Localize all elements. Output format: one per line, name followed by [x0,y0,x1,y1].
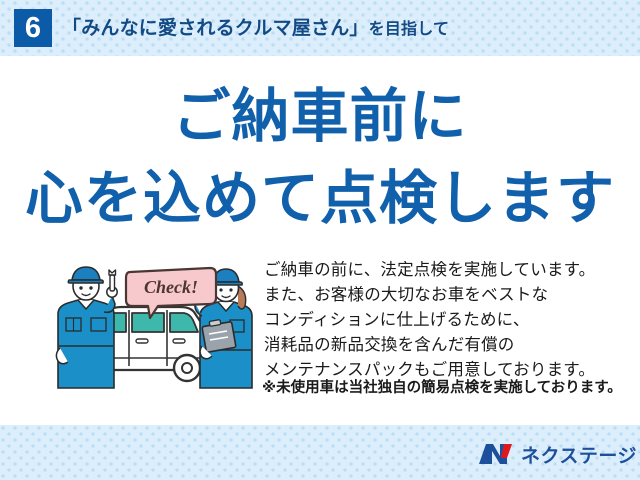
check-bubble-text: Check! [144,277,198,297]
headline-line-2: 心を込めて点検します [0,166,640,232]
body-copy-line: 消耗品の新品交換を含んだ有償の [264,333,632,358]
body-copy: ご納車の前に、法定点検を実施しています。 また、お客様の大切なお車をベストな コ… [264,258,632,383]
body-copy-line: また、お客様の大切なお車をベストな [264,283,632,308]
nextage-n-logo-icon [478,442,514,466]
mechanics-and-van-illustration: Check! [52,262,264,394]
body-copy-line: ご納車の前に、法定点検を実施しています。 [264,258,632,283]
brand-name-text: ネクステージ [521,441,637,468]
header-title-quoted: 「みんなに愛されるクルマ屋さん」 [62,18,369,39]
headline-line-1: ご納車前に [0,84,640,150]
disclaimer-note: ※未使用車は当社独自の簡易点検を実施しております。 [262,378,634,398]
section-number-badge: 6 [14,9,52,47]
advertisement-poster: 6 「みんなに愛されるクルマ屋さん」を目指して ご納車前に 心を込めて点検します… [0,0,640,480]
header-title: 「みんなに愛されるクルマ屋さん」を目指して [62,13,449,40]
header-title-tail: を目指して [369,21,450,38]
body-copy-line: コンディションに仕上げるために、 [264,308,632,333]
male-mechanic-figure [56,267,117,388]
brand-logo: ネクステージ [478,440,637,468]
